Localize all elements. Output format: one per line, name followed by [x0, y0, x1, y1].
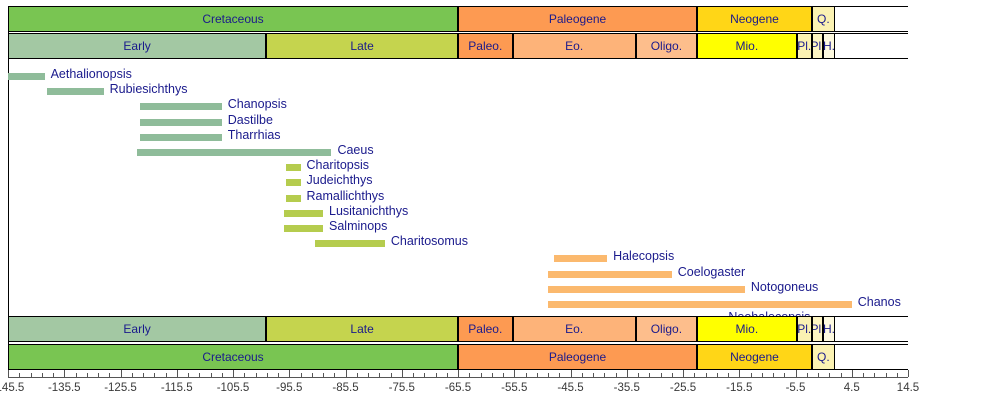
axis-tick-minor — [694, 373, 695, 377]
axis-tick-minor — [222, 373, 223, 377]
axis-line — [8, 377, 908, 378]
taxon-range-bar[interactable] — [548, 271, 672, 278]
axis-tick-major — [121, 370, 122, 377]
taxon-range-bar[interactable] — [548, 286, 745, 293]
axis-tick-minor — [649, 373, 650, 377]
taxon-name-label: Dastilbe — [228, 113, 273, 128]
epoch-cell[interactable]: Late — [266, 317, 458, 341]
bottom-epoch-band: EarlyLatePaleo.Eo.Oligo.Mio.Pl.Pl.H. — [8, 316, 908, 342]
axis-tick-major — [796, 370, 797, 377]
taxon-name-label: Aethalionopsis — [51, 67, 132, 82]
period-label: Cretaceous — [202, 13, 263, 25]
axis-tick-minor — [53, 373, 54, 377]
axis-tick-minor — [436, 373, 437, 377]
epoch-label: Pl. — [812, 323, 823, 335]
taxon-name-label: Chanopsis — [228, 97, 287, 112]
taxon-range-bar[interactable] — [286, 179, 300, 186]
axis-tick-minor — [469, 373, 470, 377]
taxon-name-label: Tharrhias — [228, 128, 281, 143]
axis-tick-minor — [424, 373, 425, 377]
taxon-name-label: Lusitanichthys — [329, 204, 408, 219]
axis-tick-label: -75.5 — [389, 383, 415, 395]
taxon-range-row[interactable]: Coelogaster — [0, 267, 1000, 282]
epoch-label: Mio. — [736, 323, 759, 335]
taxon-range-row[interactable]: Lusitanichthys — [0, 206, 1000, 221]
axis-tick-minor — [481, 373, 482, 377]
epoch-cell[interactable]: Eo. — [513, 317, 636, 341]
taxon-range-bar[interactable] — [284, 210, 323, 217]
epoch-cell[interactable]: H. — [823, 34, 835, 58]
axis-tick-minor — [98, 373, 99, 377]
axis-tick-minor — [143, 373, 144, 377]
axis-tick-minor — [42, 373, 43, 377]
period-cell[interactable]: Paleogene — [458, 7, 697, 31]
period-cell[interactable]: Cretaceous — [8, 345, 458, 369]
taxon-range-bar[interactable] — [140, 119, 222, 126]
taxon-range-row[interactable]: Charitopsis — [0, 160, 1000, 175]
axis-tick-major — [289, 370, 290, 377]
period-label: Neogene — [730, 13, 779, 25]
period-label: Q. — [817, 351, 830, 363]
axis-tick-minor — [897, 373, 898, 377]
taxon-name-label: Halecopsis — [613, 249, 674, 264]
epoch-cell[interactable]: Early — [8, 34, 266, 58]
epoch-label: Paleo. — [468, 323, 502, 335]
taxon-name-label: Coelogaster — [678, 265, 745, 280]
taxon-range-bar[interactable] — [8, 73, 45, 80]
taxon-range-row[interactable]: Ramallichthys — [0, 191, 1000, 206]
epoch-cell[interactable]: Late — [266, 34, 458, 58]
taxon-range-row[interactable]: Charitosomus — [0, 236, 1000, 251]
bottom-period-band: CretaceousPaleogeneNeogeneQ. — [8, 344, 908, 370]
axis-tick-minor — [503, 373, 504, 377]
taxon-range-bar[interactable] — [140, 134, 222, 141]
axis-tick-major — [514, 370, 515, 377]
epoch-cell[interactable]: Early — [8, 317, 266, 341]
axis-tick-minor — [492, 373, 493, 377]
taxon-range-row[interactable]: Notogoneus — [0, 282, 1000, 297]
epoch-cell[interactable]: Eo. — [513, 34, 636, 58]
epoch-cell[interactable]: Pl. — [812, 317, 823, 341]
axis-tick-label: -45.5 — [557, 383, 583, 395]
epoch-cell[interactable]: Mio. — [697, 317, 797, 341]
epoch-label: Pl. — [797, 40, 811, 52]
axis-tick-minor — [548, 373, 549, 377]
axis-tick-minor — [829, 373, 830, 377]
axis-tick-label: 4.5 — [844, 383, 860, 395]
taxon-range-row[interactable]: Chanos — [0, 297, 1000, 312]
axis-tick-minor — [278, 373, 279, 377]
axis-tick-minor — [762, 373, 763, 377]
taxon-name-label: Notogoneus — [751, 280, 818, 295]
epoch-label: H. — [823, 40, 835, 52]
axis-tick-major — [233, 370, 234, 377]
taxon-range-row[interactable]: Chanopsis — [0, 99, 1000, 114]
taxon-range-bar[interactable] — [286, 164, 300, 171]
axis-tick-minor — [728, 373, 729, 377]
epoch-cell[interactable]: Mio. — [697, 34, 797, 58]
epoch-cell[interactable]: Pl. — [797, 34, 812, 58]
taxon-range-row[interactable]: Tharrhias — [0, 130, 1000, 145]
axis-tick-minor — [368, 373, 369, 377]
axis-tick-major — [64, 370, 65, 377]
epoch-label: Late — [350, 40, 373, 52]
axis-tick-minor — [593, 373, 594, 377]
axis-tick-label: -35.5 — [614, 383, 640, 395]
epoch-cell[interactable]: Paleo. — [458, 317, 513, 341]
axis-tick-major — [683, 370, 684, 377]
axis-tick-minor — [863, 373, 864, 377]
axis-tick-minor — [132, 373, 133, 377]
axis-tick-minor — [199, 373, 200, 377]
axis-tick-minor — [323, 373, 324, 377]
epoch-label: Late — [350, 323, 373, 335]
period-label: Paleogene — [549, 351, 606, 363]
axis-tick-minor — [357, 373, 358, 377]
stratigraphic-range-chart: CretaceousPaleogeneNeogeneQ. EarlyLatePa… — [0, 0, 1000, 420]
axis-tick-minor — [256, 373, 257, 377]
epoch-cell[interactable]: H. — [823, 317, 835, 341]
epoch-cell[interactable]: Oligo. — [636, 34, 697, 58]
axis-tick-minor — [211, 373, 212, 377]
axis-tick-minor — [661, 373, 662, 377]
period-label: Cretaceous — [202, 351, 263, 363]
period-cell[interactable]: Paleogene — [458, 345, 697, 369]
axis-tick-minor — [166, 373, 167, 377]
taxon-range-row[interactable]: Caeus — [0, 145, 1000, 160]
axis-tick-label: -105.5 — [217, 383, 250, 395]
period-label: Paleogene — [549, 13, 606, 25]
axis-tick-minor — [526, 373, 527, 377]
taxon-range-row[interactable]: Salminops — [0, 221, 1000, 236]
period-cell[interactable]: Q. — [812, 345, 835, 369]
period-cell[interactable]: Cretaceous — [8, 7, 458, 31]
axis-tick-minor — [267, 373, 268, 377]
axis-tick-minor — [244, 373, 245, 377]
taxon-range-row[interactable]: Halecopsis — [0, 251, 1000, 266]
taxon-name-label: Rubiesichthys — [110, 82, 188, 97]
axis-tick-minor — [447, 373, 448, 377]
axis-tick-minor — [616, 373, 617, 377]
axis-tick-label: -115.5 — [161, 383, 193, 395]
axis-tick-major — [627, 370, 628, 377]
epoch-label: Pl. — [797, 323, 811, 335]
taxon-name-label: Charitosomus — [391, 234, 468, 249]
period-label: Q. — [817, 13, 830, 25]
taxon-range-bar[interactable] — [284, 225, 323, 232]
axis-tick-label: -85.5 — [332, 383, 358, 395]
axis-tick-minor — [109, 373, 110, 377]
axis-tick-major — [852, 370, 853, 377]
axis-tick-minor — [334, 373, 335, 377]
axis-tick-label: -25.5 — [670, 383, 696, 395]
axis-tick-minor — [841, 373, 842, 377]
period-cell[interactable]: Neogene — [697, 345, 812, 369]
taxon-name-label: Ramallichthys — [307, 189, 385, 204]
axis-tick-minor — [807, 373, 808, 377]
axis-tick-minor — [312, 373, 313, 377]
taxon-range-bar[interactable] — [47, 88, 103, 95]
axis-tick-minor — [19, 373, 20, 377]
epoch-label: Paleo. — [468, 40, 502, 52]
axis-tick-minor — [886, 373, 887, 377]
epoch-cell[interactable]: Pl. — [797, 317, 812, 341]
axis-tick-label: -5.5 — [786, 383, 806, 395]
axis-tick-label: -125.5 — [104, 383, 137, 395]
axis-tick-major — [346, 370, 347, 377]
taxon-name-label: Judeichthys — [307, 173, 373, 188]
taxon-range-row[interactable]: Judeichthys — [0, 175, 1000, 190]
taxon-range-bar[interactable] — [554, 255, 607, 262]
axis-tick-minor — [76, 373, 77, 377]
taxon-range-bar[interactable] — [548, 301, 852, 308]
epoch-label: Eo. — [565, 40, 583, 52]
axis-tick-minor — [188, 373, 189, 377]
axis-tick-minor — [379, 373, 380, 377]
epoch-cell[interactable]: Oligo. — [636, 317, 697, 341]
axis-tick-label: -135.5 — [48, 383, 81, 395]
axis-tick-minor — [582, 373, 583, 377]
period-cell[interactable]: Neogene — [697, 7, 812, 31]
axis-tick-minor — [559, 373, 560, 377]
axis-tick-minor — [706, 373, 707, 377]
axis-tick-label: -55.5 — [501, 383, 527, 395]
epoch-label: Pl. — [812, 40, 823, 52]
axis-tick-label: -15.5 — [726, 383, 752, 395]
taxon-range-row[interactable]: Dastilbe — [0, 115, 1000, 130]
axis-tick-minor — [784, 373, 785, 377]
top-period-band: CretaceousPaleogeneNeogeneQ. — [8, 6, 908, 32]
axis-tick-minor — [638, 373, 639, 377]
axis-tick-minor — [31, 373, 32, 377]
taxon-name-label: Salminops — [329, 219, 387, 234]
epoch-label: Eo. — [565, 323, 583, 335]
axis-tick-major — [739, 370, 740, 377]
epoch-label: Oligo. — [651, 40, 682, 52]
axis-tick-major — [908, 370, 909, 377]
epoch-label: Early — [123, 40, 150, 52]
taxon-name-label: Caeus — [337, 143, 373, 158]
axis-tick-label: -65.5 — [445, 383, 471, 395]
axis-tick-minor — [874, 373, 875, 377]
axis-tick-minor — [154, 373, 155, 377]
axis-tick-major — [8, 370, 9, 377]
axis-tick-minor — [751, 373, 752, 377]
axis-tick-minor — [301, 373, 302, 377]
axis-tick-label: 14.5 — [897, 383, 919, 395]
axis-tick-major — [458, 370, 459, 377]
axis-tick-minor — [818, 373, 819, 377]
taxon-range-bar[interactable] — [137, 149, 331, 156]
axis-tick-minor — [773, 373, 774, 377]
axis-tick-minor — [604, 373, 605, 377]
axis-tick-minor — [413, 373, 414, 377]
epoch-label: H. — [823, 323, 835, 335]
taxon-range-bar[interactable] — [140, 103, 222, 110]
taxon-range-row[interactable]: Rubiesichthys — [0, 84, 1000, 99]
axis-tick-minor — [87, 373, 88, 377]
epoch-label: Mio. — [736, 40, 759, 52]
epoch-label: Early — [123, 323, 150, 335]
epoch-cell[interactable]: Paleo. — [458, 34, 513, 58]
axis-tick-major — [177, 370, 178, 377]
period-label: Neogene — [730, 351, 779, 363]
axis-tick-minor — [391, 373, 392, 377]
axis-tick-minor — [537, 373, 538, 377]
axis-tick-label: -95.5 — [276, 383, 302, 395]
axis-tick-major — [402, 370, 403, 377]
top-epoch-band: EarlyLatePaleo.Eo.Oligo.Mio.Pl.Pl.H. — [8, 33, 908, 59]
taxon-range-bar[interactable] — [315, 240, 385, 247]
taxon-range-bar[interactable] — [286, 195, 300, 202]
taxon-name-label: Chanos — [858, 295, 901, 310]
period-cell[interactable]: Q. — [812, 7, 835, 31]
epoch-label: Oligo. — [651, 323, 682, 335]
axis-tick-minor — [717, 373, 718, 377]
taxon-name-label: Charitopsis — [307, 158, 370, 173]
axis-tick-label: -145.5 — [0, 383, 24, 395]
axis-tick-minor — [672, 373, 673, 377]
epoch-cell[interactable]: Pl. — [812, 34, 823, 58]
axis-tick-major — [571, 370, 572, 377]
